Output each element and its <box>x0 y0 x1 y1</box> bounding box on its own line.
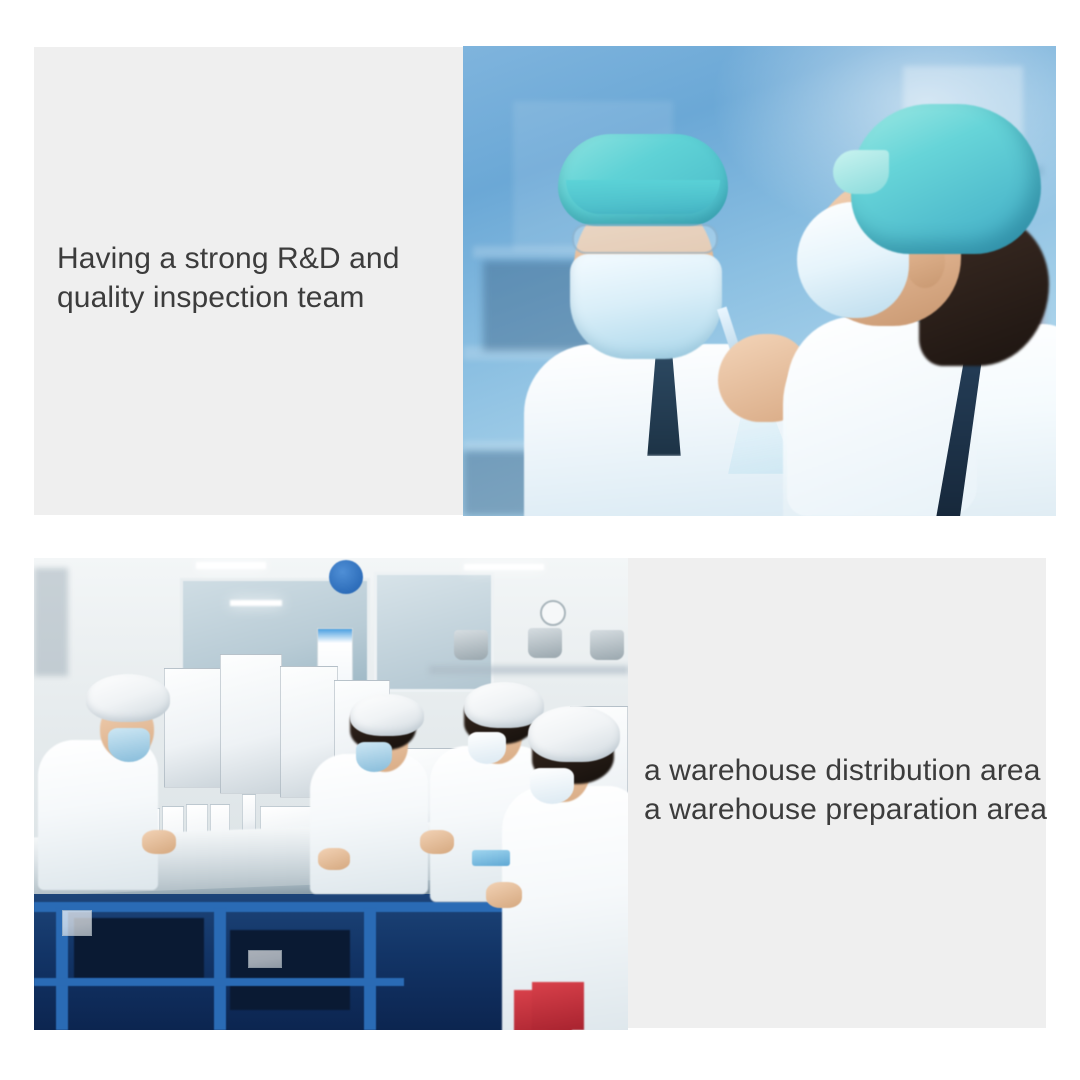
blue-surgical-cap <box>851 104 1041 254</box>
table-frame-leg <box>214 908 226 1030</box>
hairnet <box>350 694 424 736</box>
steel-pot <box>590 630 624 660</box>
lab-technician-front <box>518 96 818 516</box>
blue-surgical-cap <box>558 134 728 226</box>
warehouse-caption-line-2: a warehouse preparation area <box>644 791 1044 829</box>
table-frame-leg <box>364 908 376 1030</box>
under-table-shadow <box>230 930 350 1010</box>
blue-handheld-tool <box>472 850 510 866</box>
face-mask <box>108 728 150 762</box>
under-table-carton <box>62 910 92 936</box>
red-clothing <box>532 982 584 1030</box>
safety-glasses <box>572 224 718 254</box>
white-coat <box>310 754 428 894</box>
table-frame-rail <box>34 978 404 986</box>
warehouse-packing-photo <box>34 558 628 1030</box>
ceiling-light <box>464 564 544 570</box>
face-mask <box>530 768 574 804</box>
ceiling-light <box>230 600 282 606</box>
blue-circular-sign <box>329 560 363 594</box>
white-coat <box>38 740 158 890</box>
face-mask <box>570 254 722 359</box>
hairnet <box>528 706 620 762</box>
face-mask <box>356 742 392 772</box>
worker-hand <box>318 848 350 870</box>
under-table-shadow <box>74 918 204 978</box>
under-table-carton <box>248 950 282 968</box>
wall-clock <box>540 600 566 626</box>
warehouse-worker-right <box>502 690 628 1030</box>
face-mask <box>468 732 506 764</box>
lab-quality-inspection-photo <box>463 46 1056 516</box>
ceiling-light <box>196 562 266 569</box>
warehouse-worker-left <box>38 654 178 884</box>
lab-technician-profile <box>793 66 1056 516</box>
warehouse-caption-line-1: a warehouse distribution area <box>644 752 1044 790</box>
rd-quality-caption-line-2: quality inspection team <box>57 279 477 317</box>
worker-hand <box>142 830 176 854</box>
steel-pot <box>528 628 562 658</box>
worker-hand <box>420 830 454 854</box>
steel-pot <box>454 630 488 660</box>
worker-hand <box>486 882 522 908</box>
rd-quality-caption-line-1: Having a strong R&D and <box>57 240 477 278</box>
poster-canvas: Having a strong R&D and quality inspecti… <box>0 0 1080 1080</box>
hairnet <box>86 674 170 722</box>
carton-stack <box>220 654 282 794</box>
